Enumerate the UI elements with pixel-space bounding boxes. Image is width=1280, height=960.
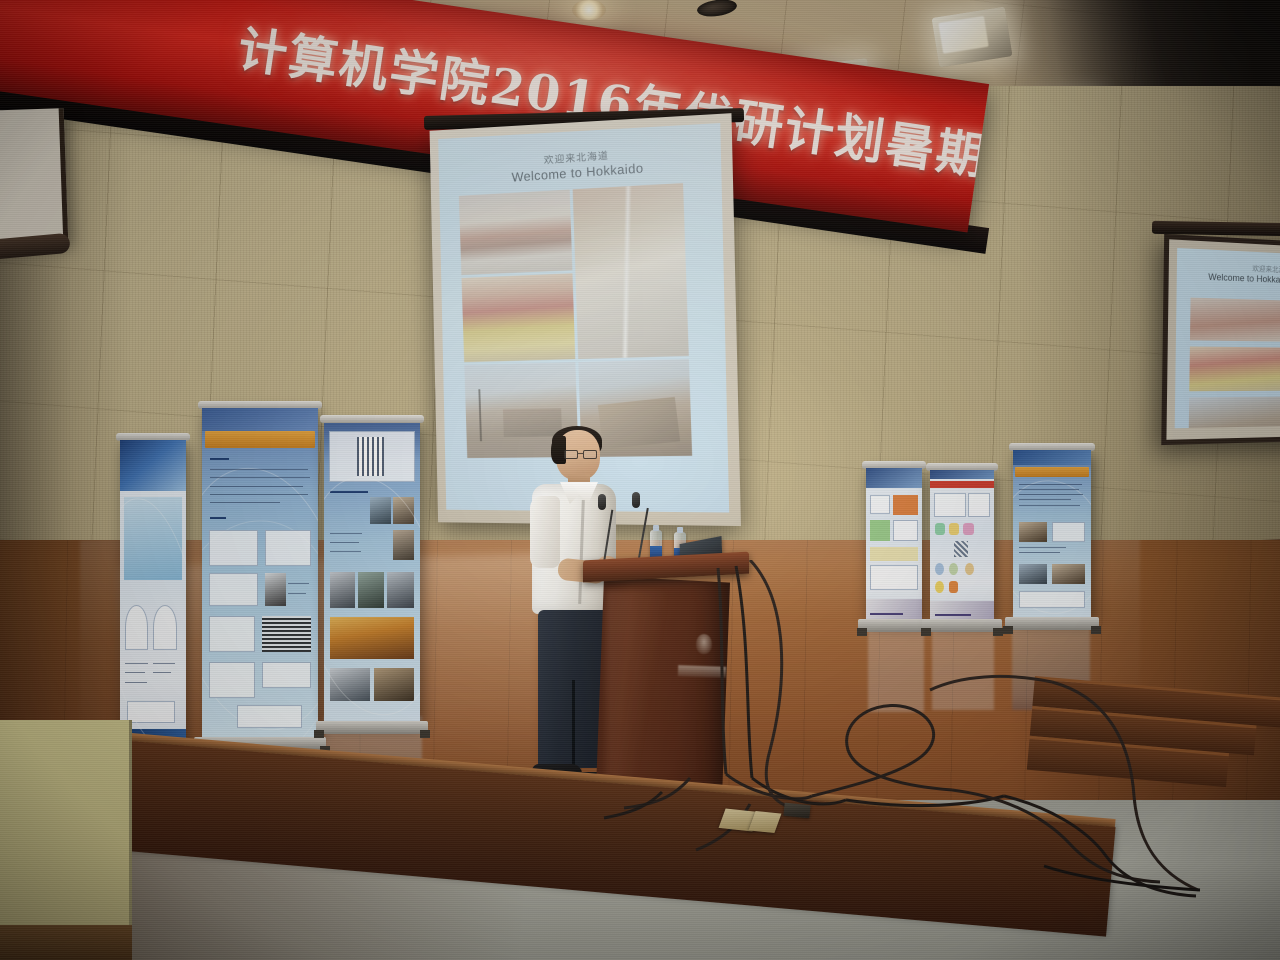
left-low-wall [0, 720, 132, 960]
poster-figure [237, 705, 302, 728]
right-slide-title: 欢迎来北海道 Welcome to Hokkaido [1208, 264, 1280, 286]
adapter-block [783, 803, 810, 819]
poster-figure [1052, 522, 1085, 542]
poster-figure [262, 662, 311, 688]
poster-photo [265, 573, 286, 606]
right-slide-photo [1189, 346, 1280, 391]
right-slide-photo [1190, 298, 1280, 342]
poster-figure [893, 495, 918, 515]
speaker-leg-split [572, 680, 575, 770]
poster-chart [357, 437, 384, 476]
poster-figure [870, 547, 918, 561]
ceiling-downlight-icon [572, 0, 606, 20]
poster-icon [949, 523, 959, 535]
poster-photo [1019, 522, 1047, 542]
poster-figure [265, 530, 311, 566]
rollup-foot [314, 730, 324, 738]
poster-artwork [324, 422, 420, 722]
poster-figure [209, 573, 258, 606]
poster-title-band [1015, 467, 1088, 477]
poster-matrix [954, 541, 968, 558]
poster-figure [870, 520, 890, 541]
poster-figure [209, 530, 258, 566]
poster-figure [870, 495, 890, 513]
speaker-sleeve [530, 496, 560, 568]
rollup-foot [420, 730, 430, 738]
poster-figure [968, 493, 990, 517]
poster-swirl [324, 468, 420, 722]
rollup-base [316, 721, 428, 734]
poster-matrix [262, 616, 311, 652]
glasses-icon [564, 450, 600, 459]
poster-title-text [1015, 467, 1088, 477]
poster-icon [963, 523, 973, 535]
right-slide-surface: 欢迎来北海道 Welcome to Hokkaido [1175, 248, 1280, 428]
poster-figure [209, 662, 255, 698]
poster-figure [209, 616, 255, 652]
right-slide-photo [1188, 396, 1280, 428]
left-low-wall-base [0, 925, 132, 960]
poster-figure [934, 493, 966, 517]
poster-figure [893, 520, 918, 541]
poster-title-text [205, 431, 314, 448]
poster-title-band [205, 431, 314, 448]
poster-artwork [202, 408, 318, 738]
poster-artwork [120, 440, 186, 758]
projection-screen-left [0, 108, 68, 247]
photo-scene: 计算机学院2016年优研计划暑期夏令营 欢迎来北海道 Welcome to Ho… [0, 0, 1280, 960]
poster-icon [935, 523, 945, 535]
rollup-banner-left-1 [120, 440, 186, 758]
rollup-banner-left-2 [202, 408, 318, 738]
projection-screen-right: 欢迎来北海道 Welcome to Hokkaido [1161, 234, 1280, 445]
floor-cables [600, 560, 1280, 920]
rollup-banner-left-3 [324, 422, 420, 722]
